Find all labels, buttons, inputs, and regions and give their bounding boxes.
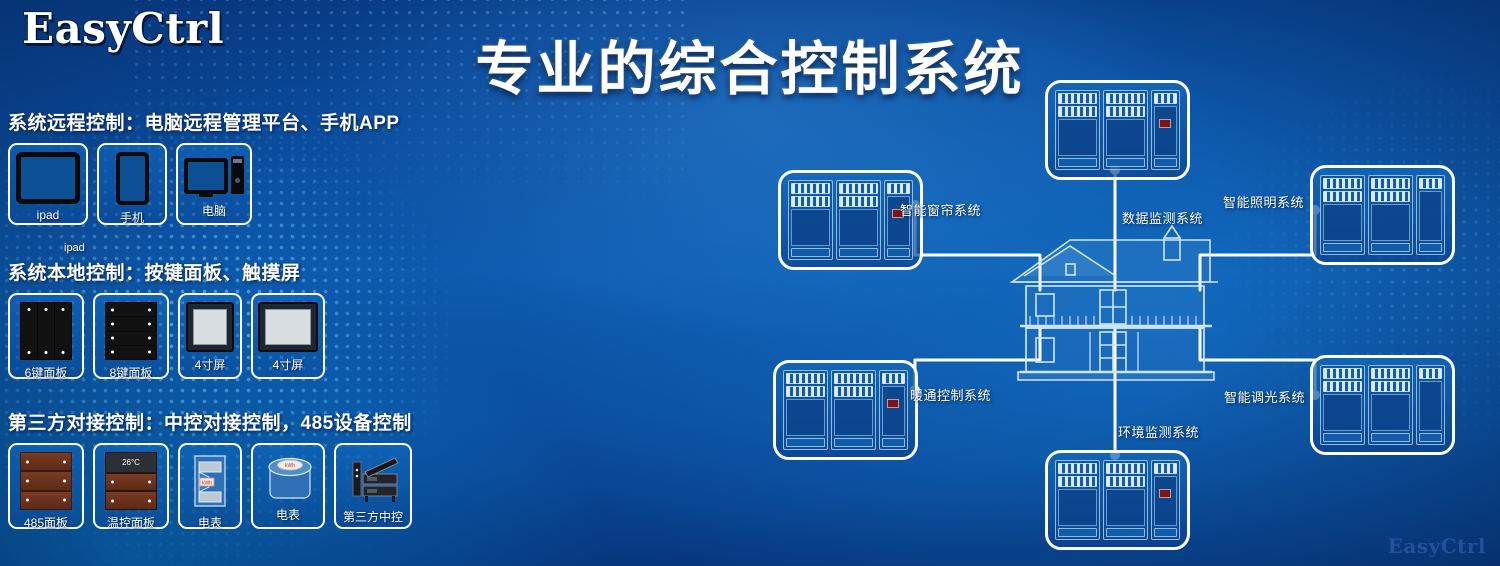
watermark-logo: EasyCtrl bbox=[1388, 534, 1486, 558]
device-card-label: 485面板 bbox=[24, 514, 68, 531]
section-heading-remote: 系统远程控制：电脑远程管理平台、手机APP bbox=[8, 108, 400, 135]
section-remote-control: 系统远程控制：电脑远程管理平台、手机APP ipad 手机 电脑 ipad bbox=[8, 108, 400, 225]
four-inch-screen-icon bbox=[186, 302, 234, 352]
villa-house-icon bbox=[1012, 226, 1218, 380]
device-card-label: 4寸屏 bbox=[195, 356, 226, 373]
device-card-4inch-screen-a[interactable]: 4寸屏 bbox=[178, 293, 242, 379]
device-card-phone[interactable]: 手机 bbox=[97, 143, 167, 225]
node-label-hvac: 暖通控制系统 bbox=[910, 385, 991, 404]
device-card-485-panel[interactable]: 485面板 bbox=[8, 443, 84, 529]
ipad-caption-overflow: ipad bbox=[64, 242, 85, 254]
device-card-label: 手机 bbox=[120, 209, 144, 226]
device-card-thermostat-panel[interactable]: 26°C 温控面板 bbox=[93, 443, 169, 529]
device-card-meter-din[interactable]: kWh 电表 bbox=[178, 443, 242, 529]
node-label-environment: 环境监测系统 bbox=[1118, 422, 1199, 441]
module-environment-monitoring[interactable] bbox=[1045, 450, 1190, 550]
smartphone-icon bbox=[116, 152, 149, 205]
thermostat-temperature-display: 26°C bbox=[106, 453, 156, 472]
av-rack-icon bbox=[347, 452, 399, 504]
brand-logo: EasyCtrl bbox=[22, 4, 224, 53]
device-card-4inch-screen-b[interactable]: 4寸屏 bbox=[251, 293, 325, 379]
system-topology-diagram: 智能窗帘系统 数据监测系统 智能照明系统 暖通控制系统 bbox=[740, 60, 1500, 560]
section-third-party-control: 第三方对接控制：中控对接控制，485设备控制 485面板 26°C 温控面板 bbox=[8, 408, 412, 529]
device-card-label: 8键面板 bbox=[110, 364, 153, 381]
module-curtain-controller[interactable] bbox=[778, 170, 923, 270]
device-card-computer[interactable]: 电脑 bbox=[176, 143, 252, 225]
module-lighting-controller[interactable] bbox=[1310, 165, 1455, 265]
svg-text:kWh: kWh bbox=[285, 463, 295, 469]
svg-text:kWh: kWh bbox=[202, 481, 212, 487]
rs485-panel-icon bbox=[20, 452, 72, 510]
device-card-8key-panel[interactable]: 8键面板 bbox=[93, 293, 169, 379]
card-row-third-party: 485面板 26°C 温控面板 bbox=[8, 443, 412, 529]
device-card-6key-panel[interactable]: 6键面板 bbox=[8, 293, 84, 379]
section-heading-third-party: 第三方对接控制：中控对接控制，485设备控制 bbox=[8, 408, 412, 435]
card-row-local: 6键面板 8键面板 4寸屏 4寸屏 bbox=[8, 293, 325, 379]
tablet-icon bbox=[16, 152, 80, 204]
module-hvac-controller[interactable] bbox=[773, 360, 918, 460]
round-meter-icon: kWh bbox=[262, 452, 314, 502]
module-dimming-controller[interactable] bbox=[1310, 355, 1455, 455]
device-card-label: ipad bbox=[37, 208, 60, 222]
device-card-label: 第三方中控 bbox=[343, 508, 403, 525]
device-card-label: 6键面板 bbox=[25, 364, 68, 381]
poster-canvas: EasyCtrl 专业的综合控制系统 系统远程控制：电脑远程管理平台、手机APP… bbox=[0, 0, 1500, 566]
device-card-ipad[interactable]: ipad bbox=[8, 143, 88, 225]
thermostat-panel-icon: 26°C bbox=[105, 452, 157, 510]
device-card-label: 电表 bbox=[276, 506, 300, 523]
node-label-curtain: 智能窗帘系统 bbox=[900, 200, 981, 219]
device-card-third-party-controller[interactable]: 第三方中控 bbox=[334, 443, 412, 529]
device-card-label: 4寸屏 bbox=[273, 356, 304, 373]
node-label-data: 数据监测系统 bbox=[1122, 208, 1203, 227]
six-key-panel-icon bbox=[20, 302, 72, 360]
section-heading-local: 系统本地控制：按键面板、触摸屏 bbox=[8, 258, 325, 285]
node-label-lighting: 智能照明系统 bbox=[1223, 192, 1304, 211]
eight-key-panel-icon bbox=[105, 302, 157, 360]
module-data-monitoring[interactable] bbox=[1045, 80, 1190, 180]
four-inch-screen-wide-icon bbox=[258, 302, 318, 352]
device-card-label: 电表 bbox=[198, 514, 222, 531]
device-card-meter-round[interactable]: kWh 电表 bbox=[251, 443, 325, 529]
section-local-control: 系统本地控制：按键面板、触摸屏 6键面板 8键面板 4寸屏 4寸屏 bbox=[8, 258, 325, 379]
desktop-computer-icon bbox=[184, 152, 244, 198]
node-label-dimming: 智能调光系统 bbox=[1224, 387, 1305, 406]
device-card-label: 温控面板 bbox=[107, 514, 155, 531]
card-row-remote: ipad 手机 电脑 bbox=[8, 143, 400, 225]
device-card-label: 电脑 bbox=[202, 202, 226, 219]
electric-meter-icon: kWh bbox=[187, 452, 233, 510]
